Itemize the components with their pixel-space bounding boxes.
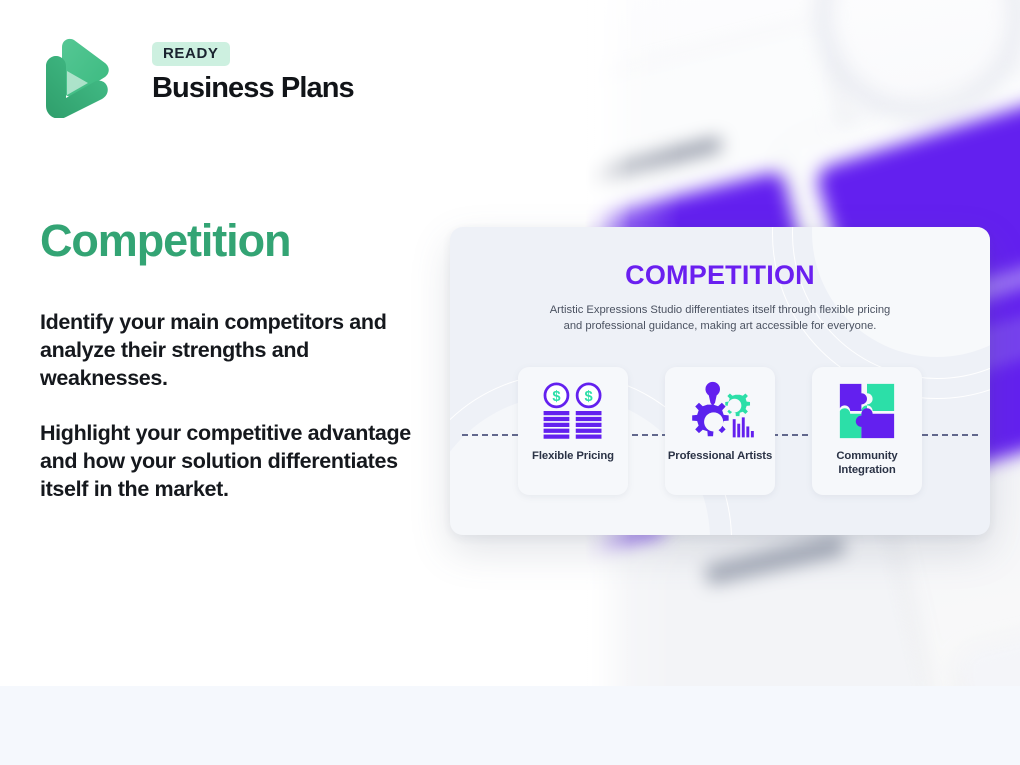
pillar-card-community-integration[interactable]: Community Integration	[812, 367, 922, 495]
play-triangle-logo-icon	[40, 38, 112, 118]
pillar-card-professional-artists[interactable]: Professional Artists	[665, 367, 775, 495]
brand-logo: READY Business Plans	[40, 38, 380, 122]
pillar-label: Flexible Pricing	[532, 450, 614, 464]
deck-page	[959, 514, 1020, 686]
svg-text:$: $	[552, 389, 560, 405]
puzzle-pieces-icon	[830, 378, 904, 444]
description-paragraph-2: Highlight your competitive advantage and…	[40, 419, 436, 503]
slide-subtitle: Artistic Expressions Studio differentiat…	[540, 303, 900, 334]
gears-lightbulb-chart-icon	[683, 378, 757, 444]
slide-preview-page: READY Business Plans Competition Identif…	[0, 0, 1020, 765]
ready-badge: READY	[152, 42, 230, 66]
page-title: Competition	[40, 216, 290, 266]
pillar-label: Community Integration	[812, 450, 922, 477]
slide-title: COMPETITION	[450, 260, 990, 291]
slide-card[interactable]: COMPETITION Artistic Expressions Studio …	[450, 227, 990, 535]
corner-circle-decoration	[812, 227, 990, 357]
brand-name: Business Plans	[152, 72, 354, 105]
brand-logo-text: READY Business Plans	[152, 42, 354, 105]
pillar-card-flexible-pricing[interactable]: $ $	[518, 367, 628, 495]
description-paragraph-1: Identify your main competitors and analy…	[40, 308, 436, 392]
bottom-strip	[0, 686, 1020, 765]
pillar-list: $ $	[518, 367, 922, 495]
coin-stacks-icon: $ $	[536, 378, 610, 444]
pillar-label: Professional Artists	[668, 450, 772, 464]
svg-text:$: $	[585, 389, 593, 405]
